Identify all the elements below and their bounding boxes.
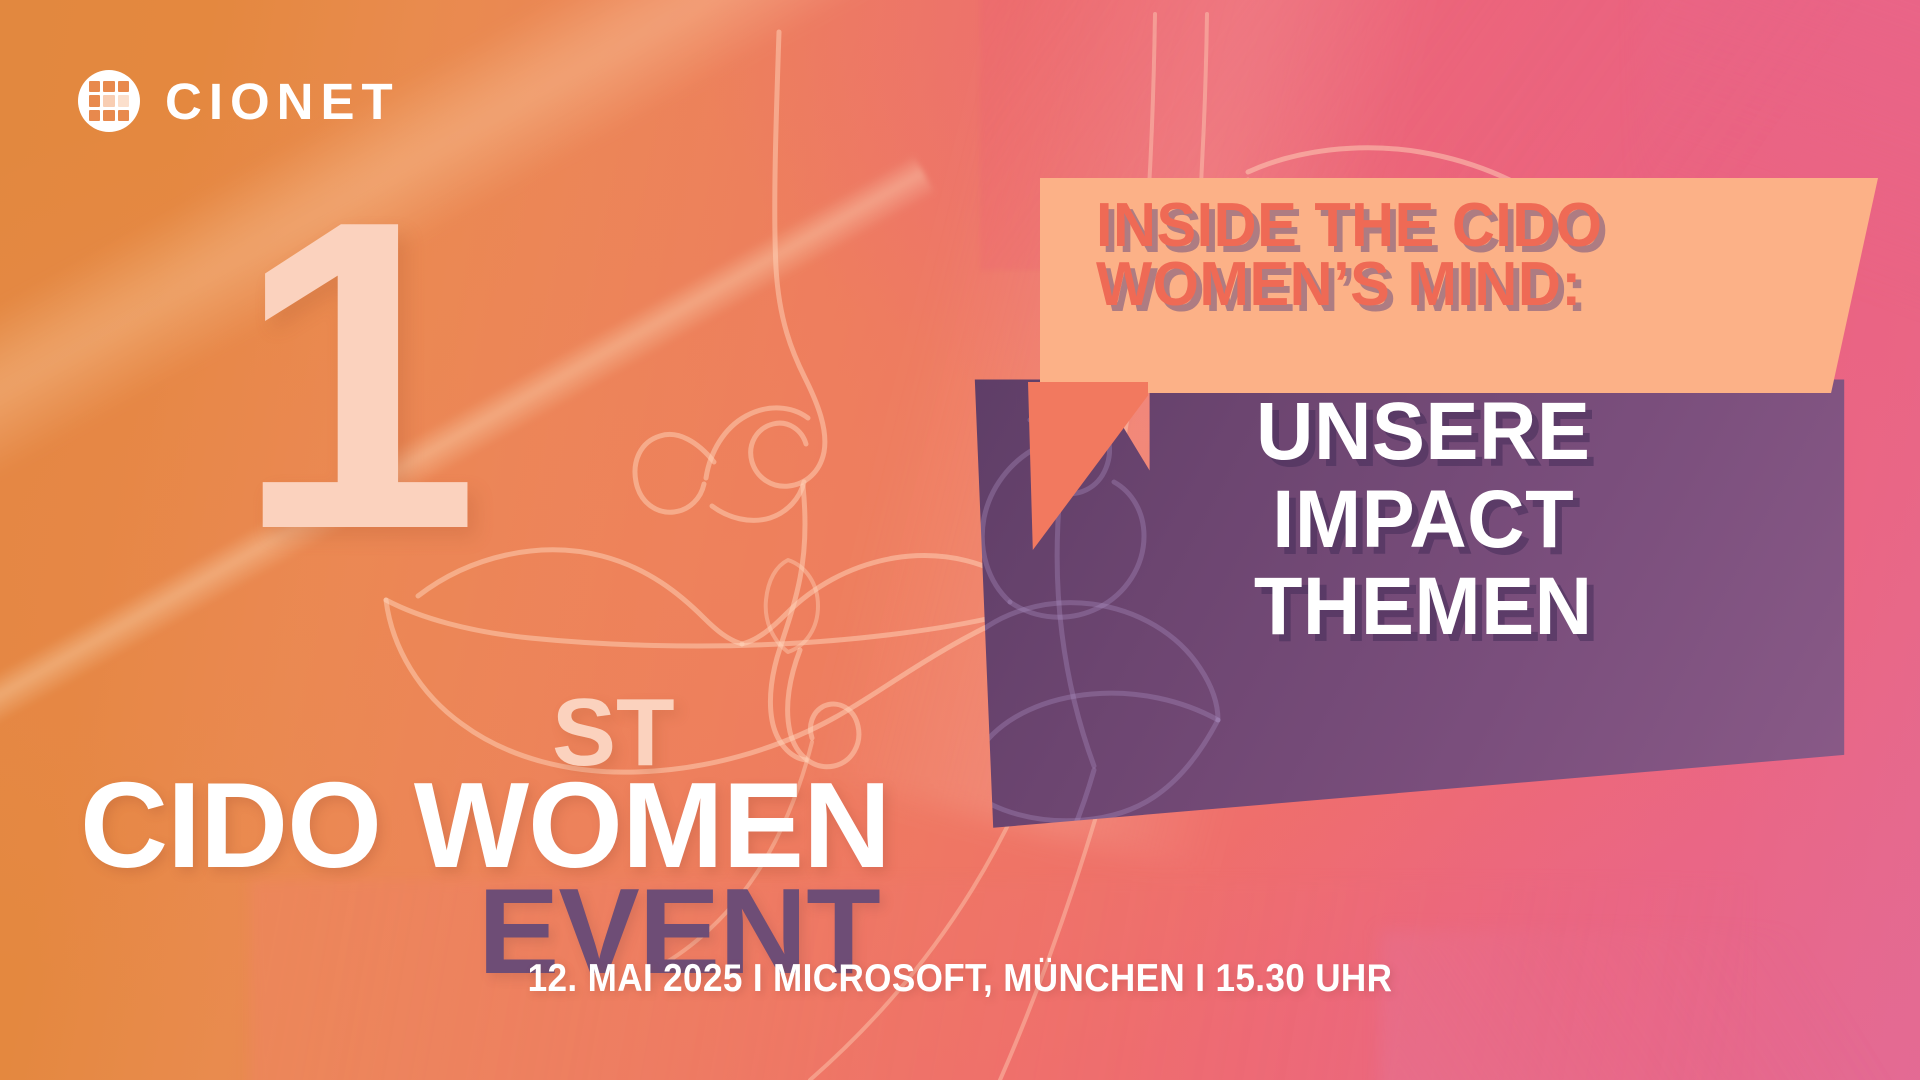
impact-line-1: UNSERE	[1002, 388, 1844, 476]
ordinal-number: 1	[235, 156, 472, 596]
impact-text: UNSERE IMPACT THEMEN	[952, 388, 1844, 651]
cionet-wordmark: CIONET	[165, 76, 400, 127]
logo-cell	[89, 95, 100, 106]
kicker-line-1: INSIDE THE CIDO	[1096, 197, 1826, 256]
logo-cell	[118, 110, 129, 121]
logo-cell	[89, 81, 100, 92]
logo-cell	[103, 95, 114, 106]
logo-cell	[103, 110, 114, 121]
kicker-line-2: WOMEN’S MIND:	[1096, 256, 1826, 315]
cionet-logo[interactable]: CIONET	[78, 70, 400, 132]
logo-cell	[89, 110, 100, 121]
impact-line-3: THEMEN	[1002, 563, 1844, 651]
logo-cell	[118, 81, 129, 92]
ordinal-row: 1 ST	[80, 222, 920, 538]
kicker-text: INSIDE THE CIDO WOMEN’S MIND:	[1096, 197, 1826, 315]
event-banner: CIONET 1 ST CIDO WOMEN EVENT INSIDE THE …	[0, 0, 1920, 1080]
cionet-grid-circle-icon	[78, 70, 140, 132]
logo-cell	[118, 95, 129, 106]
headline-block: 1 ST CIDO WOMEN EVENT	[80, 222, 920, 538]
logo-cell	[103, 81, 114, 92]
logo-grid	[89, 81, 129, 121]
impact-line-2: IMPACT	[1002, 476, 1844, 564]
event-details: 12. MAI 2025 I MICROSOFT, MÜNCHEN I 15.3…	[96, 957, 1824, 1001]
